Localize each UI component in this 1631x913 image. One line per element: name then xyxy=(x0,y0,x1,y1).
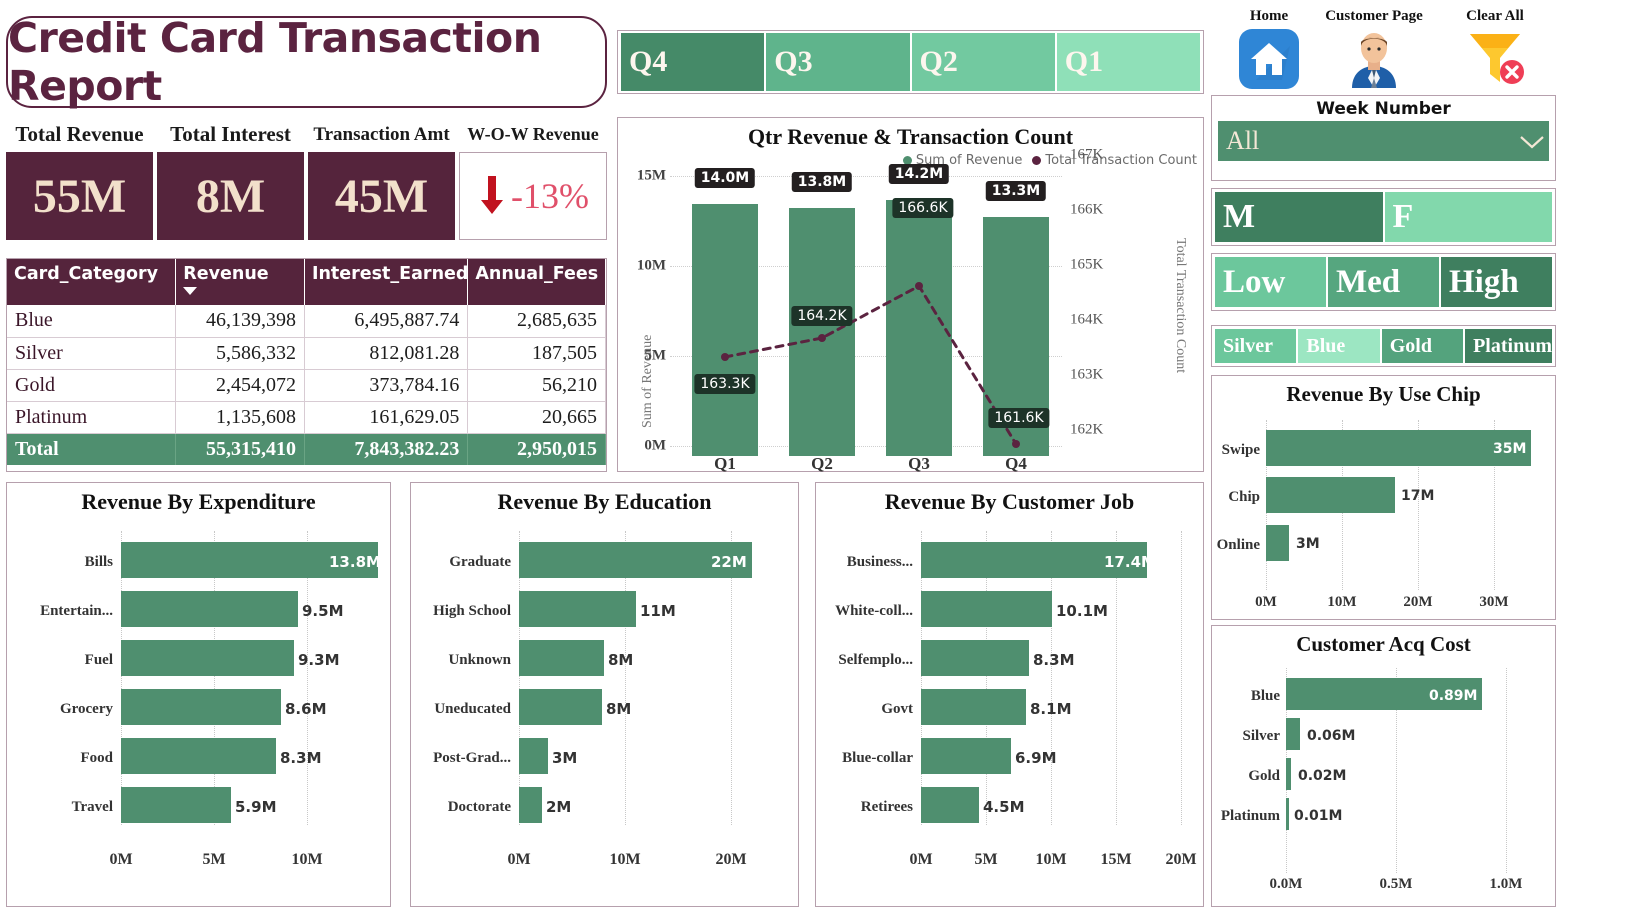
card-category-slicer[interactable]: Silver Blue Gold Platinum xyxy=(1211,325,1556,367)
x-tick-label: 5M xyxy=(974,851,997,869)
line-point-q2[interactable] xyxy=(818,334,826,342)
category-label-white-collar: White-coll... xyxy=(816,603,913,620)
data-label-q2-transactions: 164.2K xyxy=(791,306,852,326)
bar-doctorate[interactable] xyxy=(519,787,542,823)
bar-q1-revenue[interactable] xyxy=(692,204,758,456)
y2-tick-label: 167K xyxy=(1070,147,1103,164)
nav-customer-page[interactable]: Customer Page xyxy=(1325,8,1423,88)
category-label-blue: Blue xyxy=(1212,688,1280,705)
category-label-silver: Silver xyxy=(1212,728,1280,745)
data-label-graduate: 22M xyxy=(711,553,747,571)
x-tick-label: 20M xyxy=(715,851,746,869)
data-label-online: 3M xyxy=(1296,536,1320,552)
revenue-by-expenditure-chart: Revenue By Expenditure Bills 13.8M Enter… xyxy=(6,482,391,907)
x-tick-label: 0M xyxy=(507,851,530,869)
x-tick-label: 0.5M xyxy=(1380,876,1413,893)
data-label-fuel: 9.3M xyxy=(298,651,340,669)
gender-slicer-item-f[interactable]: F xyxy=(1385,192,1553,242)
bar-platinum-acq[interactable] xyxy=(1286,798,1289,830)
gender-slicer-item-m[interactable]: M xyxy=(1215,192,1383,242)
card-slicer-item-gold[interactable]: Gold xyxy=(1382,329,1463,363)
quarter-slicer-label: Q3 xyxy=(774,45,812,79)
data-label-q4-transactions: 161.6K xyxy=(988,408,1049,428)
quarter-slicer-label: Q1 xyxy=(1065,45,1103,79)
y-tick-label: 10M xyxy=(637,258,666,275)
data-label-silver-acq: 0.06M xyxy=(1307,728,1355,744)
cell-annual-fees: 187,505 xyxy=(468,337,606,369)
bar-white-collar[interactable] xyxy=(921,591,1052,627)
qtr-revenue-transaction-chart: Qtr Revenue & Transaction Count Sum of R… xyxy=(617,117,1204,472)
data-label-q1-transactions: 163.3K xyxy=(694,374,755,394)
income-slicer-label: Low xyxy=(1223,264,1285,301)
cell-card-category: Platinum xyxy=(7,401,176,433)
income-slicer-label: High xyxy=(1449,264,1519,301)
data-label-unknown: 8M xyxy=(608,651,633,669)
bar-unknown[interactable] xyxy=(519,640,604,676)
income-slicer-label: Med xyxy=(1336,264,1400,301)
chart-title-qtr: Qtr Revenue & Transaction Count xyxy=(618,118,1203,150)
y2-tick-label: 164K xyxy=(1070,312,1103,329)
table-row[interactable]: Blue 46,139,398 6,495,887.74 2,685,635 xyxy=(7,305,606,337)
chart-title-acq-cost: Customer Acq Cost xyxy=(1212,626,1555,657)
home-icon[interactable] xyxy=(1222,28,1316,90)
data-label-gold-acq: 0.02M xyxy=(1298,768,1346,784)
x-tick-label: 20M xyxy=(1403,594,1432,611)
quarter-slicer-item-q3[interactable]: Q3 xyxy=(766,33,909,91)
x-tick-label: 10M xyxy=(291,851,322,869)
bar-gold-acq[interactable] xyxy=(1286,758,1291,790)
category-label-post-graduate: Post-Grad... xyxy=(411,750,511,767)
chart-title-education: Revenue By Education xyxy=(411,483,798,515)
category-label-retirees: Retirees xyxy=(816,799,913,816)
gridline xyxy=(1181,531,1182,825)
column-header-revenue-label: Revenue xyxy=(183,264,268,284)
category-label-businessman: Business... xyxy=(816,554,913,571)
quarter-slicer-item-q2[interactable]: Q2 xyxy=(912,33,1055,91)
kpi-card-total-interest: 8M xyxy=(157,152,304,240)
category-label-govt: Govt xyxy=(816,701,913,718)
kpi-label-wow-revenue: W-O-W Revenue xyxy=(459,124,607,145)
nav-home-label: Home xyxy=(1222,8,1316,25)
category-label-gold: Gold xyxy=(1212,768,1280,785)
category-label-doctorate: Doctorate xyxy=(411,799,511,816)
kpi-value-transaction-amt: 45M xyxy=(335,169,428,224)
table-total-row: Total 55,315,410 7,843,382.23 2,950,015 xyxy=(7,433,606,465)
week-number-slicer[interactable]: Week Number All xyxy=(1211,95,1556,181)
x-tick-label: 30M xyxy=(1479,594,1508,611)
data-label-travel: 5.9M xyxy=(235,798,277,816)
legend-marker-transactions xyxy=(1032,156,1041,165)
card-slicer-item-platinum[interactable]: Platinum xyxy=(1465,329,1552,363)
gender-slicer[interactable]: M F xyxy=(1211,188,1556,246)
data-label-doctorate: 2M xyxy=(546,798,571,816)
week-number-dropdown[interactable]: All xyxy=(1218,121,1549,161)
data-label-uneducated: 8M xyxy=(606,700,631,718)
bar-post-graduate[interactable] xyxy=(519,738,548,774)
report-title-container: Credit Card Transaction Report xyxy=(6,16,607,108)
bar-uneducated[interactable] xyxy=(519,689,602,725)
y-tick-label: 0M xyxy=(644,438,666,455)
kpi-value-total-interest: 8M xyxy=(196,169,265,224)
cell-card-category: Blue xyxy=(7,305,176,337)
bar-high-school[interactable] xyxy=(519,591,636,627)
cell-total-interest-earned: 7,843,382.23 xyxy=(304,433,467,465)
quarter-slicer[interactable]: Q4 Q3 Q2 Q1 xyxy=(617,30,1204,94)
y2-tick-label: 163K xyxy=(1070,367,1103,384)
x-tick-label: 0M xyxy=(909,851,932,869)
cell-total-label: Total xyxy=(7,433,176,465)
dashboard-page: Credit Card Transaction Report Total Rev… xyxy=(0,0,1631,913)
category-label-chip: Chip xyxy=(1212,489,1260,506)
data-label-q3-revenue: 14.2M xyxy=(889,164,949,184)
x-tick-label: Q2 xyxy=(811,454,833,474)
bar-swipe[interactable] xyxy=(1266,430,1531,466)
legend-label-transactions: Total Transaction Count xyxy=(1045,153,1197,168)
category-label-travel: Travel xyxy=(9,799,113,816)
card-slicer-label: Gold xyxy=(1390,335,1432,358)
cell-annual-fees: 2,685,635 xyxy=(468,305,606,337)
cell-total-annual-fees: 2,950,015 xyxy=(468,433,606,465)
qtr-chart-plot-area: 15M 10M 5M 0M 167K 166K 165K 164K 163K 1… xyxy=(670,176,1062,456)
kpi-label-total-revenue: Total Revenue xyxy=(6,122,153,147)
bar-online[interactable] xyxy=(1266,525,1289,561)
legend-item-total-transaction-count: Total Transaction Count xyxy=(1032,153,1197,168)
data-label-q4-revenue: 13.3M xyxy=(986,181,1046,201)
category-label-bills: Bills xyxy=(9,554,113,571)
x-tick-label: Q1 xyxy=(714,454,736,474)
income-group-slicer[interactable]: Low Med High xyxy=(1211,253,1556,311)
axis-title-total-transaction-count: Total Transaction Count xyxy=(1172,238,1188,373)
kpi-card-wow-revenue: -13% xyxy=(459,152,607,240)
bar-food[interactable] xyxy=(121,738,276,774)
category-label-high-school: High School xyxy=(411,603,511,620)
kpi-card-transaction-amt: 45M xyxy=(308,152,455,240)
x-tick-label: 10M xyxy=(609,851,640,869)
category-label-platinum: Platinum xyxy=(1212,808,1280,825)
cell-card-category: Silver xyxy=(7,337,176,369)
clear-filter-icon[interactable] xyxy=(1455,28,1535,86)
arrow-down-icon xyxy=(477,172,507,220)
cell-annual-fees: 20,665 xyxy=(468,401,606,433)
column-header-card-category[interactable]: Card_Category xyxy=(7,259,176,305)
x-tick-label: 15M xyxy=(1100,851,1131,869)
card-slicer-item-silver[interactable]: Silver xyxy=(1215,329,1296,363)
data-label-white-collar: 10.1M xyxy=(1056,602,1108,620)
card-category-matrix[interactable]: Card_Category Revenue Interest_Earned An… xyxy=(6,258,607,472)
x-tick-label: Q3 xyxy=(908,454,930,474)
y2-tick-label: 166K xyxy=(1070,202,1103,219)
income-slicer-item-high[interactable]: High xyxy=(1441,257,1552,307)
quarter-slicer-label: Q2 xyxy=(920,45,958,79)
data-label-blue-collar: 6.9M xyxy=(1015,749,1057,767)
cell-interest-earned: 812,081.28 xyxy=(304,337,467,369)
y2-tick-label: 162K xyxy=(1070,422,1103,439)
data-label-businessman: 17.4M xyxy=(1104,553,1156,571)
line-point-q4[interactable] xyxy=(1012,440,1020,448)
chart-title-expenditure: Revenue By Expenditure xyxy=(7,483,390,515)
kpi-value-wow-revenue: -13% xyxy=(511,175,589,217)
x-tick-label: 0M xyxy=(1255,594,1277,611)
nav-home[interactable]: Home xyxy=(1222,8,1316,90)
column-header-interest-earned[interactable]: Interest_Earned xyxy=(304,259,467,305)
y2-tick-label: 165K xyxy=(1070,257,1103,274)
income-slicer-item-med[interactable]: Med xyxy=(1328,257,1439,307)
category-label-blue-collar: Blue-collar xyxy=(816,750,913,767)
cell-interest-earned: 373,784.16 xyxy=(304,369,467,401)
table-row[interactable]: Platinum 1,135,608 161,629.05 20,665 xyxy=(7,401,606,433)
quarter-slicer-item-q1[interactable]: Q1 xyxy=(1057,33,1200,91)
cell-revenue: 46,139,398 xyxy=(176,305,305,337)
data-label-bills: 13.8M xyxy=(329,553,381,571)
bar-blue-collar[interactable] xyxy=(921,738,1011,774)
cell-card-category: Gold xyxy=(7,369,176,401)
x-tick-label: 5M xyxy=(202,851,225,869)
x-tick-label: 1.0M xyxy=(1490,876,1523,893)
quarter-slicer-label: Q4 xyxy=(629,45,667,79)
income-slicer-item-low[interactable]: Low xyxy=(1215,257,1326,307)
data-label-retirees: 4.5M xyxy=(983,798,1025,816)
line-point-q3[interactable] xyxy=(915,282,923,290)
data-label-chip: 17M xyxy=(1401,488,1434,504)
quarter-slicer-item-q4[interactable]: Q4 xyxy=(621,33,764,91)
card-slicer-label: Blue xyxy=(1306,335,1345,358)
page-title: Credit Card Transaction Report xyxy=(8,14,605,110)
revenue-by-customer-job-chart: Revenue By Customer Job Business... 17.4… xyxy=(815,482,1204,907)
card-slicer-label: Platinum xyxy=(1473,335,1552,358)
category-label-swipe: Swipe xyxy=(1212,442,1260,459)
data-label-q1-revenue: 14.0M xyxy=(695,168,755,188)
data-label-entertainment: 9.5M xyxy=(302,602,344,620)
x-tick-label: 0M xyxy=(109,851,132,869)
revenue-by-use-chip-chart: Revenue By Use Chip Swipe 35M Chip 17M O… xyxy=(1211,375,1556,620)
category-label-online: Online xyxy=(1212,537,1260,554)
bar-q2-revenue[interactable] xyxy=(789,208,855,456)
data-label-selfemployed: 8.3M xyxy=(1033,651,1075,669)
data-label-q3-transactions: 166.6K xyxy=(892,198,953,218)
revenue-by-education-chart: Revenue By Education Graduate 22M High S… xyxy=(410,482,799,907)
bar-govt[interactable] xyxy=(921,689,1026,725)
category-label-fuel: Fuel xyxy=(9,652,113,669)
table-row[interactable]: Silver 5,586,332 812,081.28 187,505 xyxy=(7,337,606,369)
category-label-entertainment: Entertain... xyxy=(9,603,113,620)
data-label-post-graduate: 3M xyxy=(552,749,577,767)
category-label-selfemployed: Selfemplo... xyxy=(816,652,913,669)
bar-q3-revenue[interactable] xyxy=(886,200,952,456)
x-tick-label: 0.0M xyxy=(1270,876,1303,893)
cell-total-revenue: 55,315,410 xyxy=(176,433,305,465)
data-label-platinum-acq: 0.01M xyxy=(1294,808,1342,824)
data-label-swipe: 35M xyxy=(1493,441,1526,457)
y-tick-label: 15M xyxy=(637,168,666,185)
kpi-card-total-revenue: 55M xyxy=(6,152,153,240)
cell-revenue: 2,454,072 xyxy=(176,369,305,401)
y-tick-label: 5M xyxy=(644,348,666,365)
bar-retirees[interactable] xyxy=(921,787,979,823)
category-label-food: Food xyxy=(9,750,113,767)
cell-interest-earned: 161,629.05 xyxy=(304,401,467,433)
cell-annual-fees: 56,210 xyxy=(468,369,606,401)
column-header-revenue[interactable]: Revenue xyxy=(176,259,305,305)
cell-revenue: 5,586,332 xyxy=(176,337,305,369)
category-label-grocery: Grocery xyxy=(9,701,113,718)
nav-clear-all-label: Clear All xyxy=(1455,8,1535,25)
bar-entertainment[interactable] xyxy=(121,591,298,627)
bar-chip[interactable] xyxy=(1266,477,1395,513)
week-number-value: All xyxy=(1226,126,1259,156)
x-tick-label: 10M xyxy=(1035,851,1066,869)
category-label-unknown: Unknown xyxy=(411,652,511,669)
x-tick-label: 20M xyxy=(1165,851,1196,869)
category-label-uneducated: Uneducated xyxy=(411,701,511,718)
kpi-label-transaction-amt: Transaction Amt xyxy=(308,124,455,146)
sort-descending-icon xyxy=(183,287,197,295)
chart-title-customer-job: Revenue By Customer Job xyxy=(816,483,1203,515)
data-label-govt: 8.1M xyxy=(1030,700,1072,718)
bar-selfemployed[interactable] xyxy=(921,640,1029,676)
bar-fuel[interactable] xyxy=(121,640,294,676)
gridline xyxy=(1506,668,1507,873)
person-icon[interactable] xyxy=(1325,28,1423,88)
line-point-q1[interactable] xyxy=(721,353,729,361)
chevron-down-icon[interactable] xyxy=(1519,135,1541,147)
data-label-food: 8.3M xyxy=(280,749,322,767)
kpi-value-total-revenue: 55M xyxy=(33,169,126,224)
cell-interest-earned: 6,495,887.74 xyxy=(304,305,467,337)
data-label-q2-revenue: 13.8M xyxy=(792,172,852,192)
category-label-graduate: Graduate xyxy=(411,554,511,571)
cell-revenue: 1,135,608 xyxy=(176,401,305,433)
customer-acq-cost-chart: Customer Acq Cost Blue 0.89M Silver 0.06… xyxy=(1211,625,1556,907)
gender-slicer-label: M xyxy=(1223,198,1255,236)
table-row[interactable]: Gold 2,454,072 373,784.16 56,210 xyxy=(7,369,606,401)
nav-customer-page-label: Customer Page xyxy=(1325,8,1423,25)
data-label-grocery: 8.6M xyxy=(285,700,327,718)
week-number-slicer-title: Week Number xyxy=(1212,96,1555,121)
data-label-blue-acq: 0.89M xyxy=(1429,688,1477,704)
nav-clear-all[interactable]: Clear All xyxy=(1455,8,1535,86)
table-header-row: Card_Category Revenue Interest_Earned An… xyxy=(7,259,606,305)
x-tick-label: Q4 xyxy=(1005,454,1027,474)
column-header-annual-fees[interactable]: Annual_Fees xyxy=(468,259,606,305)
gender-slicer-label: F xyxy=(1393,198,1414,236)
card-slicer-label: Silver xyxy=(1223,335,1273,358)
card-slicer-item-blue[interactable]: Blue xyxy=(1298,329,1379,363)
data-label-high-school: 11M xyxy=(640,602,676,620)
bar-travel[interactable] xyxy=(121,787,231,823)
bar-silver-acq[interactable] xyxy=(1286,718,1300,750)
chart-title-use-chip: Revenue By Use Chip xyxy=(1212,376,1555,407)
kpi-label-total-interest: Total Interest xyxy=(157,122,304,147)
x-tick-label: 10M xyxy=(1327,594,1356,611)
bar-grocery[interactable] xyxy=(121,689,281,725)
